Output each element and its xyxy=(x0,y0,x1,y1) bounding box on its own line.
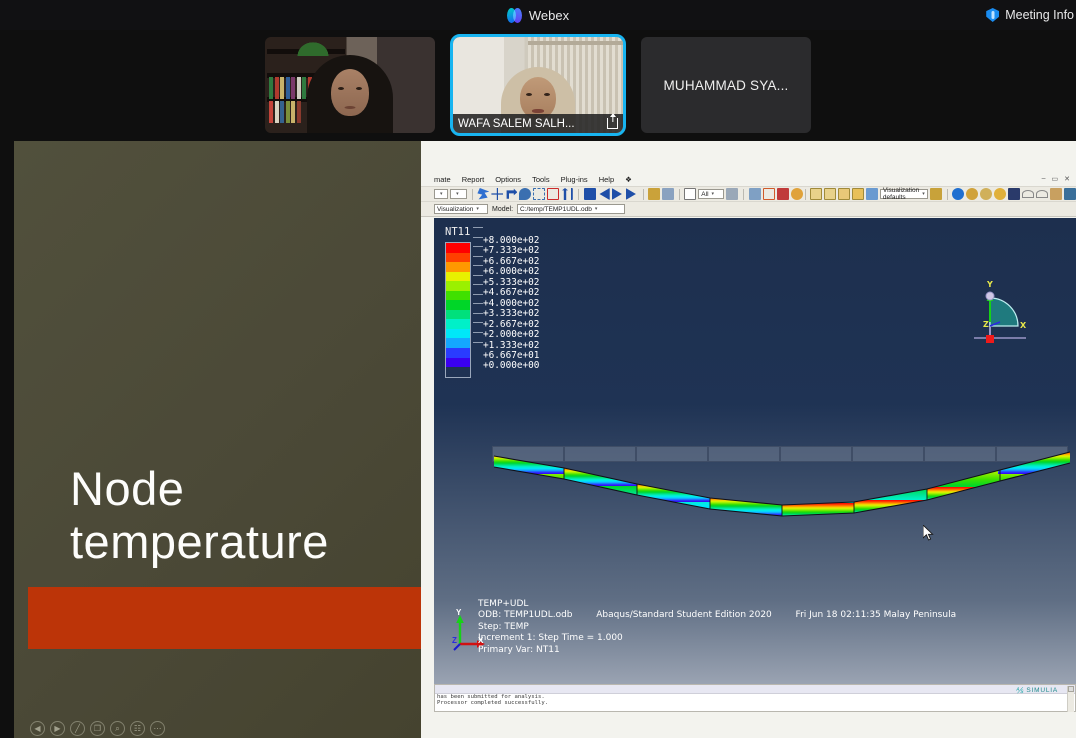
slide-controls-toolbar[interactable]: ◀ ▶ ╱ ❐ ⌕ ☷ ⋯ xyxy=(30,721,165,736)
previous-slide-button[interactable]: ◀ xyxy=(30,721,45,736)
replace-group-icon[interactable] xyxy=(763,188,775,200)
render-style-icon[interactable] xyxy=(866,188,878,200)
frame-combo[interactable]: ▾ xyxy=(450,189,467,199)
simulia-glyph-icon: ⅍ xyxy=(1016,686,1024,695)
module-combo[interactable]: Visualization▾ xyxy=(434,204,488,214)
module-value: Visualization xyxy=(437,206,473,213)
info-icon[interactable] xyxy=(952,188,964,200)
remove-group-icon[interactable] xyxy=(777,188,789,200)
select-arrow-icon[interactable] xyxy=(684,188,696,200)
legend-value-labels: +8.000e+02 +7.333e+02 +6.667e+02 +6.000e… xyxy=(483,236,539,372)
viewport-options-icon[interactable] xyxy=(726,188,738,200)
step-combo[interactable]: ▾ xyxy=(434,189,448,199)
message-scrollbar[interactable] xyxy=(1067,686,1074,712)
participant-name-bar: WAFA SALEM SALH... xyxy=(453,114,623,133)
first-frame-icon[interactable] xyxy=(584,188,596,200)
refresh-icon[interactable] xyxy=(477,188,489,200)
participant-name: WAFA SALEM SALH... xyxy=(458,118,603,130)
legend-label: +2.000e+02 xyxy=(483,330,539,340)
participant-filmstrip: WAFA SALEM SALH... MUHAMMAD SYA... xyxy=(0,30,1076,140)
rotate-icon[interactable] xyxy=(505,188,517,200)
reset-group-icon[interactable] xyxy=(791,188,803,200)
webex-logo-icon xyxy=(507,8,522,23)
magnify-icon[interactable] xyxy=(519,188,531,200)
contour-legend: NT11 +8.000e+02 +7.333e+02 +6.667e+02 +6… xyxy=(445,226,539,378)
chart-icon[interactable] xyxy=(1064,188,1076,200)
history-output-icon[interactable] xyxy=(662,188,674,200)
participant-name: MUHAMMAD SYA... xyxy=(663,78,788,93)
slide-title: Node temperature xyxy=(70,463,400,568)
triad-label-x: X xyxy=(1020,321,1026,330)
menu-item-animate[interactable]: mate xyxy=(434,175,451,184)
box-zoom-icon[interactable] xyxy=(533,188,545,200)
message-area-header xyxy=(435,685,1075,694)
annotation-step: Step: TEMP xyxy=(478,622,956,633)
legend-tick-marks xyxy=(473,227,483,351)
help-pointer-icon[interactable]: ❖ xyxy=(625,175,632,184)
fit-view-icon[interactable] xyxy=(547,188,559,200)
participant-silhouette xyxy=(307,55,393,133)
redo-icon[interactable] xyxy=(1036,190,1048,198)
view-top-icon[interactable] xyxy=(838,188,850,200)
slide-title-line-1: Node xyxy=(70,463,400,516)
message-line: Processor completed successfully. xyxy=(435,700,1075,706)
annotation-job-title: TEMP+UDL xyxy=(478,599,956,610)
slide-title-line-2: temperature xyxy=(70,516,400,569)
legend-color-swatches xyxy=(445,242,471,378)
contour-icon[interactable] xyxy=(966,188,978,200)
zoom-button[interactable]: ⌕ xyxy=(110,721,125,736)
books-decor xyxy=(269,77,312,99)
menu-item-options[interactable]: Options xyxy=(495,175,521,184)
last-frame-icon[interactable] xyxy=(626,188,638,200)
viewport-filter-combo[interactable]: All▾ xyxy=(698,189,724,199)
annotation-version: Abaqus/Standard Student Edition 2020 xyxy=(596,610,772,620)
axis-label-z: Z xyxy=(452,636,457,645)
menu-item-plugins[interactable]: Plug-ins xyxy=(561,175,588,184)
face xyxy=(520,77,556,119)
minimize-button[interactable]: – xyxy=(1042,175,1046,183)
abaqus-message-area[interactable]: has been submitted for analysis. Process… xyxy=(434,684,1076,712)
play-frame-icon[interactable] xyxy=(612,188,624,200)
simulia-logo: ⅍ SIMULIA xyxy=(1016,686,1058,695)
pan-icon[interactable] xyxy=(491,188,503,200)
curtain-rod-decor xyxy=(528,41,623,45)
beam-contour-plot xyxy=(492,446,1072,526)
close-button[interactable]: ✕ xyxy=(1064,175,1070,183)
view-orientation-triad: Y Z X xyxy=(970,280,1032,354)
symbol-plot-icon[interactable] xyxy=(980,188,992,200)
abaqus-menu-bar[interactable]: mate Report Options Tools Plug-ins Help … xyxy=(434,174,632,185)
screen-share-icon xyxy=(607,118,618,129)
view-side-icon[interactable] xyxy=(852,188,864,200)
model-value: C:/temp/TEMP1UDL.odb xyxy=(520,206,592,213)
annotation-odb-line: ODB: TEMP1UDL.odb Abaqus/Standard Studen… xyxy=(478,610,956,621)
view-front-icon[interactable] xyxy=(824,188,836,200)
triad-label-y: Y xyxy=(987,280,993,289)
annotate-pen-button[interactable]: ╱ xyxy=(70,721,85,736)
participant-tile-3[interactable]: MUHAMMAD SYA... xyxy=(641,37,811,133)
participant-tile-1[interactable] xyxy=(265,37,435,133)
triad-label-z: Z xyxy=(983,320,989,329)
annotation-primary-var: Primary Var: NT11 xyxy=(478,645,956,656)
slide-grid-button[interactable]: ❐ xyxy=(90,721,105,736)
annotation-odb: ODB: TEMP1UDL.odb xyxy=(478,610,573,620)
more-options-button[interactable]: ⋯ xyxy=(150,721,165,736)
simulia-wordmark: SIMULIA xyxy=(1026,687,1058,694)
color-code-icon[interactable] xyxy=(930,188,942,200)
window-controls[interactable]: – ▭ ✕ xyxy=(1042,175,1070,183)
annotation-increment: Increment 1: Step Time = 1.000 xyxy=(478,633,956,644)
field-output-icon[interactable] xyxy=(648,188,660,200)
xy-plot-icon[interactable] xyxy=(1008,188,1020,200)
abaqus-toolbar-primary[interactable]: ▾ ▾ All▾ Visualizat xyxy=(421,186,1076,202)
webex-brand: Webex xyxy=(507,8,569,23)
slide-arrow-graphic xyxy=(28,587,421,649)
meeting-info-label: Meeting Info xyxy=(1005,8,1074,22)
material-orient-icon[interactable] xyxy=(994,188,1006,200)
display-group-icon[interactable] xyxy=(749,188,761,200)
sort-icon[interactable] xyxy=(561,188,573,200)
face xyxy=(331,69,369,116)
captions-button[interactable]: ☷ xyxy=(130,721,145,736)
viewport-filter-value: All xyxy=(701,191,708,198)
menu-item-report[interactable]: Report xyxy=(462,175,485,184)
menu-item-tools[interactable]: Tools xyxy=(532,175,550,184)
next-slide-button[interactable]: ▶ xyxy=(50,721,65,736)
render-style-value: Visualization defaults xyxy=(883,187,919,201)
view-iso-icon[interactable] xyxy=(810,188,822,200)
app-title: Webex xyxy=(529,8,569,23)
menu-item-help[interactable]: Help xyxy=(599,175,614,184)
deformed-beam-svg xyxy=(492,446,1072,526)
annotation-date: Fri Jun 18 02:11:35 Malay Peninsula xyxy=(796,610,957,620)
render-style-combo[interactable]: Visualization defaults▾ xyxy=(880,189,928,199)
books-decor xyxy=(269,101,301,123)
model-combo[interactable]: C:/temp/TEMP1UDL.odb▾ xyxy=(517,204,625,214)
previous-frame-icon[interactable] xyxy=(598,188,610,200)
shield-info-icon xyxy=(986,8,999,22)
abaqus-viewport[interactable]: NT11 +8.000e+02 +7.333e+02 +6.667e+02 +6… xyxy=(434,218,1076,684)
legend-label: +0.000e+00 xyxy=(483,361,539,371)
undo-icon[interactable] xyxy=(1022,190,1034,198)
presentation-slide[interactable]: Node temperature ◀ ▶ ╱ ❐ ⌕ ☷ ⋯ xyxy=(14,141,421,738)
abaqus-toolbar-context[interactable]: Visualization▾ Model: C:/temp/TEMP1UDL.o… xyxy=(421,202,1076,217)
mouse-cursor xyxy=(923,525,934,541)
abaqus-cae-window[interactable]: – ▭ ✕ mate Report Options Tools Plug-ins… xyxy=(421,141,1076,738)
plant-decor xyxy=(295,40,331,56)
probe-icon[interactable] xyxy=(1050,188,1062,200)
meeting-info-button[interactable]: Meeting Info xyxy=(986,0,1076,30)
axis-label-y: Y xyxy=(456,608,461,617)
viewport-annotation: TEMP+UDL ODB: TEMP1UDL.odb Abaqus/Standa… xyxy=(478,599,956,656)
participant-tile-2-active[interactable]: WAFA SALEM SALH... xyxy=(453,37,623,133)
maximize-button[interactable]: ▭ xyxy=(1052,175,1059,183)
model-label: Model: xyxy=(492,206,513,213)
webex-top-bar: Webex Meeting Info xyxy=(0,0,1076,30)
